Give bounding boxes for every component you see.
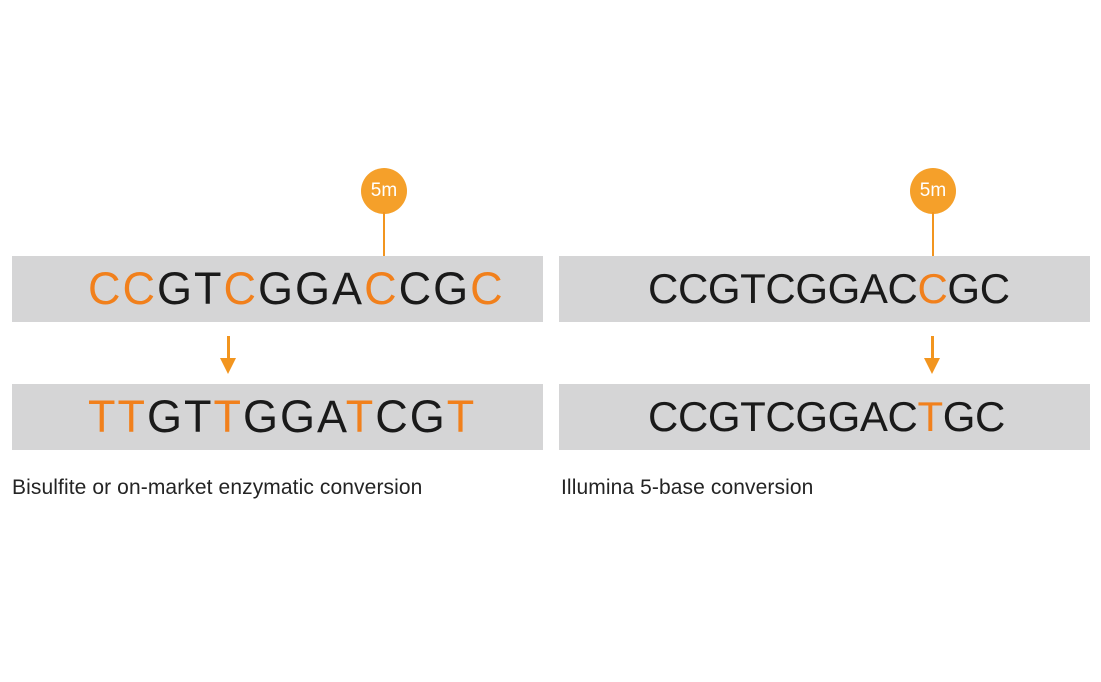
base-0: C [648,393,678,440]
base-4: C [765,265,795,312]
base-4: C [224,263,259,314]
base-6: G [828,265,860,312]
base-7: A [860,265,888,312]
base-7: A [332,263,364,314]
base-0: T [88,391,118,442]
input-sequence-bar: CCGTCGGACCGC [559,256,1090,322]
base-2: G [708,393,740,440]
base-8: T [346,391,376,442]
base-11: C [980,265,1010,312]
methyl-badge-circle: 5m [910,168,956,214]
output-sequence-bar: TTGTTGGATCGT [12,384,543,450]
base-1: C [123,263,158,314]
base-3: T [740,393,765,440]
base-11: C [470,263,505,314]
base-5: G [258,263,295,314]
base-5: G [795,265,827,312]
base-1: C [678,393,708,440]
base-0: C [648,265,678,312]
input-sequence-text: CCGTCGGACCGC [12,263,505,315]
methyl-badge-stem [383,212,385,256]
arrow-head [924,358,940,374]
input-sequence-text: CCGTCGGACCGC [559,265,1010,313]
base-5: G [795,393,827,440]
base-7: A [860,393,888,440]
base-3: T [184,391,214,442]
base-6: G [828,393,860,440]
base-2: G [157,263,194,314]
output-sequence-text: TTGTTGGATCGT [12,391,476,443]
base-2: G [708,265,740,312]
base-4: T [214,391,244,442]
base-1: C [678,265,708,312]
base-8: C [888,265,918,312]
base-7: A [317,391,346,442]
base-1: T [118,391,148,442]
methylation-conversion-figure: 5m CCGTCGGACCGC TTGTTGGATCGT Bisulfite o… [0,0,1101,682]
base-2: G [147,391,184,442]
base-11: C [975,393,1005,440]
base-5: G [243,391,280,442]
base-10: G [433,263,470,314]
bisulfite-panel: 5m CCGTCGGACCGC TTGTTGGATCGT Bisulfite o… [0,0,556,682]
arrow-shaft [227,336,230,360]
methyl-badge-circle: 5m [361,168,407,214]
base-9: C [917,265,947,312]
base-6: G [295,263,332,314]
arrow-shaft [931,336,934,360]
input-sequence-bar: CCGTCGGACCGC [12,256,543,322]
base-10: G [947,265,979,312]
base-3: T [194,263,224,314]
panel-caption: Illumina 5-base conversion [561,476,813,500]
base-11: T [447,391,477,442]
output-sequence-text: CCGTCGGACTGC [559,393,1005,441]
base-9: C [375,391,410,442]
panel-caption: Bisulfite or on-market enzymatic convers… [12,476,422,500]
base-0: C [88,263,123,314]
base-3: T [740,265,765,312]
illumina-panel: 5m CCGTCGGACCGC CCGTCGGACTGC Illumina 5-… [556,0,1101,682]
arrow-head [220,358,236,374]
base-10: G [943,393,975,440]
base-9: T [917,393,942,440]
methyl-badge-stem [932,212,934,256]
base-10: G [410,391,447,442]
base-9: C [399,263,434,314]
base-6: G [280,391,317,442]
output-sequence-bar: CCGTCGGACTGC [559,384,1090,450]
base-8: C [364,263,399,314]
base-4: C [765,393,795,440]
base-8: C [888,393,918,440]
